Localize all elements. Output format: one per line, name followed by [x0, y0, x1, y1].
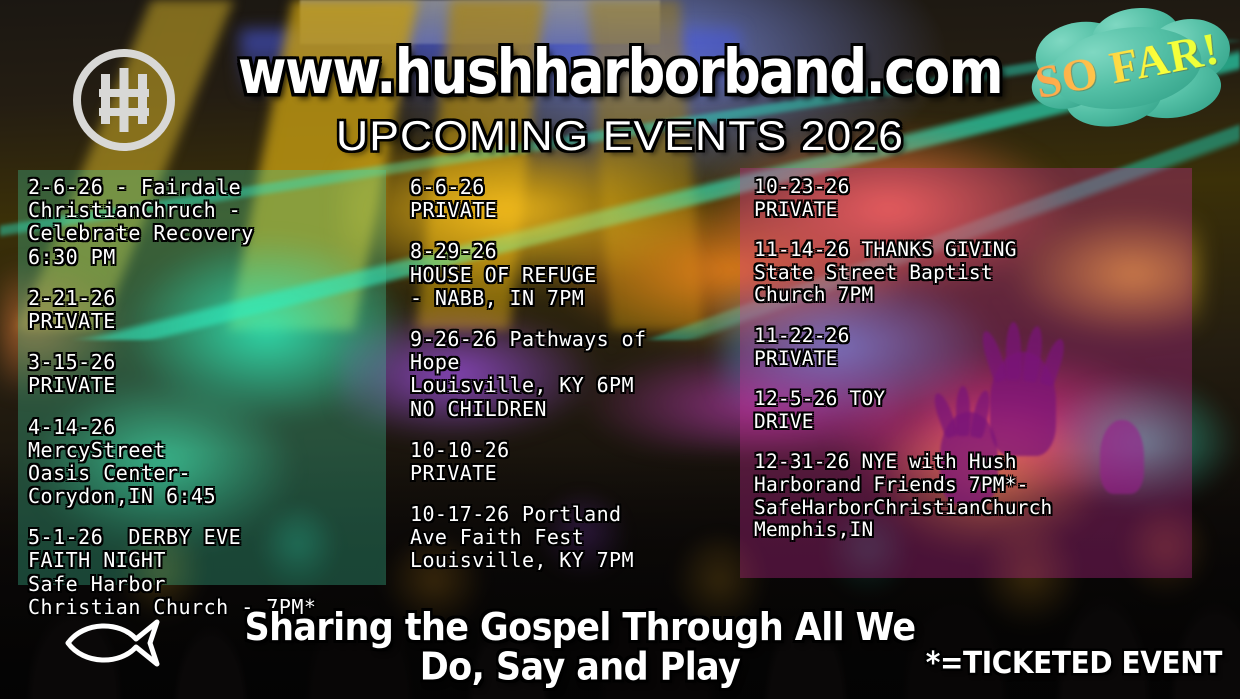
ticketed-event-note: *=TICKETED EVENT [926, 645, 1222, 681]
event-item: 9-26-26 Pathways of Hope Louisville, KY … [410, 328, 740, 421]
ichthys-fish-icon [62, 614, 160, 672]
events-column-3: 10-23-26 PRIVATE 11-14-26 THANKS GIVING … [754, 176, 1204, 560]
tagline-line-2: Do, Say and Play [200, 648, 960, 688]
event-item: 10-10-26 PRIVATE [410, 439, 740, 485]
event-item: 2-21-26 PRIVATE [28, 287, 378, 333]
tagline: Sharing the Gospel Through All We Do, Sa… [200, 608, 960, 687]
event-item: 10-17-26 Portland Ave Faith Fest Louisvi… [410, 503, 740, 573]
event-flyer-poster: www.hushharborband.com UPCOMING EVENTS 2… [0, 0, 1240, 699]
events-column-2: 6-6-26 PRIVATE 8-29-26 HOUSE OF REFUGE -… [410, 176, 740, 591]
event-item: 6-6-26 PRIVATE [410, 176, 740, 222]
event-item: 8-29-26 HOUSE OF REFUGE - NABB, IN 7PM [410, 240, 740, 310]
event-item: 12-5-26 TOY DRIVE [754, 388, 1204, 433]
event-item: 4-14-26 MercyStreet Oasis Center- Corydo… [28, 416, 378, 509]
event-item: 11-22-26 PRIVATE [754, 325, 1204, 370]
event-item: 2-6-26 - Fairdale ChristianChruch - Cele… [28, 176, 378, 269]
tagline-line-1: Sharing the Gospel Through All We [200, 608, 960, 648]
event-item: 11-14-26 THANKS GIVING State Street Bapt… [754, 239, 1204, 307]
event-item: 10-23-26 PRIVATE [754, 176, 1204, 221]
events-columns: 2-6-26 - Fairdale ChristianChruch - Cele… [0, 176, 1240, 596]
event-item: 12-31-26 NYE with Hush Harborand Friends… [754, 451, 1204, 541]
events-column-1: 2-6-26 - Fairdale ChristianChruch - Cele… [28, 176, 378, 637]
event-item: 3-15-26 PRIVATE [28, 351, 378, 397]
